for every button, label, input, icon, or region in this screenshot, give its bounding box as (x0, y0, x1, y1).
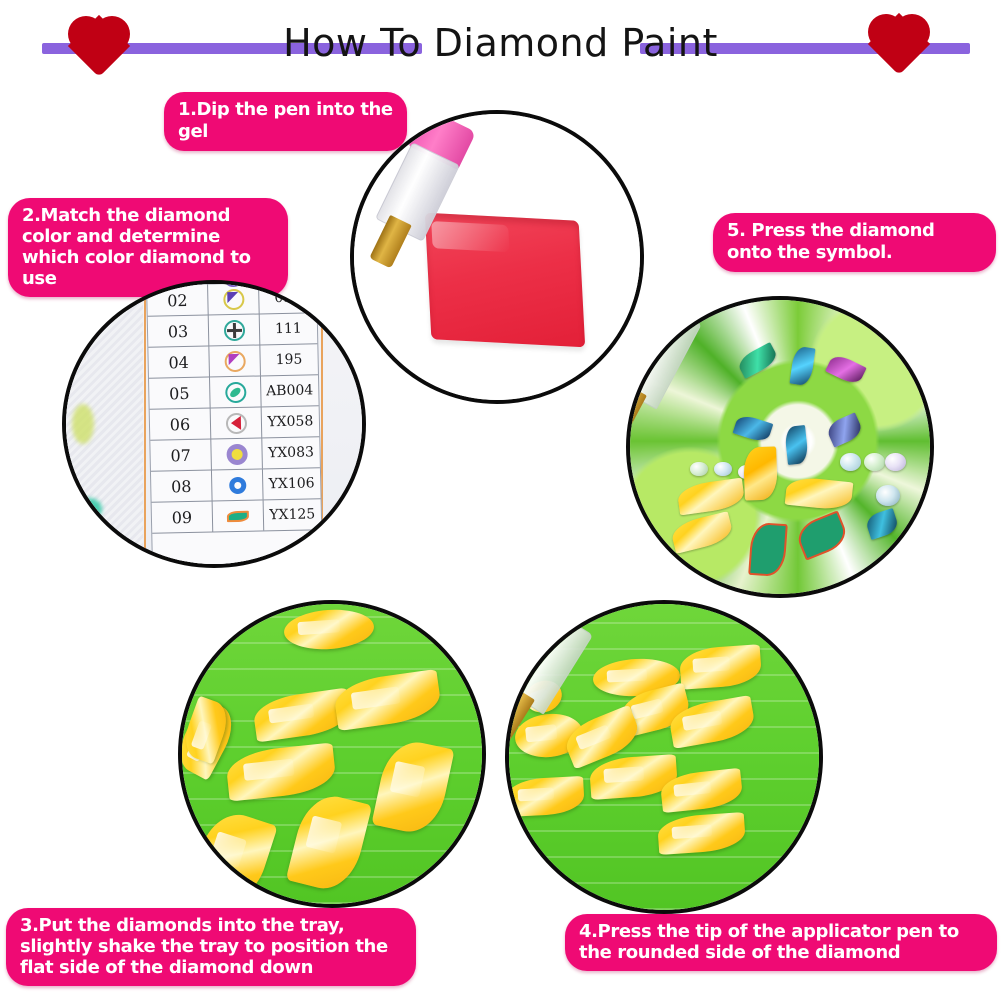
photo-press-onto-symbol (626, 296, 934, 598)
canvas-paint-blob (76, 498, 102, 520)
color-chart-code: YX106 (263, 475, 320, 492)
color-chart-code: 093 (259, 289, 316, 306)
mandala-gem (735, 342, 779, 378)
color-chart-row: 03111 (148, 313, 317, 348)
diamond-group (182, 604, 482, 904)
mandala-gem (690, 462, 708, 477)
color-chart-code: 111 (260, 320, 317, 337)
color-chart-row: 08YX106 (151, 468, 320, 503)
diamond-gem (371, 736, 454, 838)
open-ring-circle-icon (226, 474, 247, 495)
mandala-gem (669, 511, 734, 554)
photo-pen-picks-diamond (505, 600, 823, 914)
left-chevron-circle-icon (225, 412, 246, 433)
color-chart-number: 09 (152, 507, 212, 527)
color-chart-number: 07 (150, 445, 210, 465)
mandala-gem (864, 508, 900, 540)
color-chart-symbol-cell (211, 469, 264, 500)
color-chart-symbol-cell (210, 407, 263, 438)
photo-color-chart: 0102802093031110419505AB00406YX05807YX08… (62, 280, 366, 568)
filled-triangle-circle-icon (223, 288, 244, 309)
color-chart-row: 05AB004 (149, 375, 318, 410)
color-chart-row: 04195 (148, 344, 317, 379)
color-chart-symbol-cell (208, 314, 261, 345)
color-chart-symbol-cell (211, 500, 264, 531)
color-chart-number: 06 (150, 414, 210, 434)
filled-triangle-circle-icon (224, 350, 245, 371)
color-chart-number: 08 (151, 476, 211, 496)
leaf-shape-icon (227, 505, 248, 526)
mandala-gem (785, 476, 854, 512)
color-chart-code: YX083 (262, 444, 319, 461)
slash-oval-circle-icon (224, 381, 245, 402)
printed-petal-symbol (748, 522, 788, 577)
step-2-label: 2.Match the diamond color and determine … (8, 198, 288, 297)
printed-petal-symbol (793, 510, 851, 561)
diamond-gem (678, 644, 761, 689)
color-chart-row: 09YX125 (151, 499, 320, 534)
mandala-gem (825, 412, 865, 447)
color-chart-number: 04 (148, 352, 208, 372)
color-chart-symbol-cell (208, 345, 261, 376)
color-chart-number: 05 (149, 383, 209, 403)
color-chart-code: AB004 (261, 382, 318, 399)
diamond-gem (657, 812, 746, 855)
dot-in-ring-circle-icon (226, 443, 247, 464)
mandala-gem (876, 485, 900, 506)
color-chart-symbol-cell (210, 438, 263, 469)
mandala-gem (864, 453, 885, 471)
color-chart-symbol-cell (209, 376, 262, 407)
color-chart-code: YX125 (264, 506, 321, 523)
diamond-gem (188, 806, 278, 908)
plus-circle-icon (223, 319, 244, 340)
mandala-gem (733, 413, 774, 444)
canvas-paint-blob (72, 404, 94, 444)
color-chart-number: 03 (148, 321, 208, 341)
gel-pad (425, 213, 586, 347)
mandala-gem (676, 478, 745, 516)
color-chart-row: 07YX083 (150, 437, 319, 472)
step-4-label: 4.Press the tip of the applicator pen to… (565, 914, 997, 971)
diamond-gem (225, 742, 337, 801)
mandala-gem (714, 462, 732, 477)
step-5-label: 5. Press the diamond onto the symbol. (713, 213, 996, 272)
mandala-gem (825, 352, 866, 386)
mandala-gem (840, 453, 861, 471)
color-chart-code: YX058 (262, 413, 319, 430)
color-chart-number: 02 (147, 290, 207, 310)
step-3-label: 3.Put the diamonds into the tray, slight… (6, 908, 416, 986)
mandala-gem (784, 425, 809, 465)
diamond-gem (286, 789, 373, 895)
photo-diamonds-in-tray (178, 600, 486, 908)
mandala-gem (789, 346, 815, 387)
pen-tip (369, 214, 412, 268)
page-title: How To Diamond Paint (0, 20, 1001, 66)
color-chart-row: 02093 (147, 282, 316, 317)
diamond-gem (332, 669, 443, 731)
color-legend-table: 0102802093031110419505AB00406YX05807YX08… (146, 280, 323, 568)
mandala-gem (743, 446, 778, 500)
diamond-gem (505, 776, 584, 817)
mandala-gem (885, 453, 906, 471)
diamond-gem (283, 607, 376, 652)
color-chart-code: 195 (260, 351, 317, 368)
color-chart-row: 06YX058 (150, 406, 319, 441)
infographic-canvas: How To Diamond Paint 1.Dip the pen into … (0, 0, 1001, 1001)
header: How To Diamond Paint (0, 0, 1001, 90)
color-chart-symbol-cell (207, 283, 260, 314)
photo-pen-in-gel (350, 110, 644, 404)
